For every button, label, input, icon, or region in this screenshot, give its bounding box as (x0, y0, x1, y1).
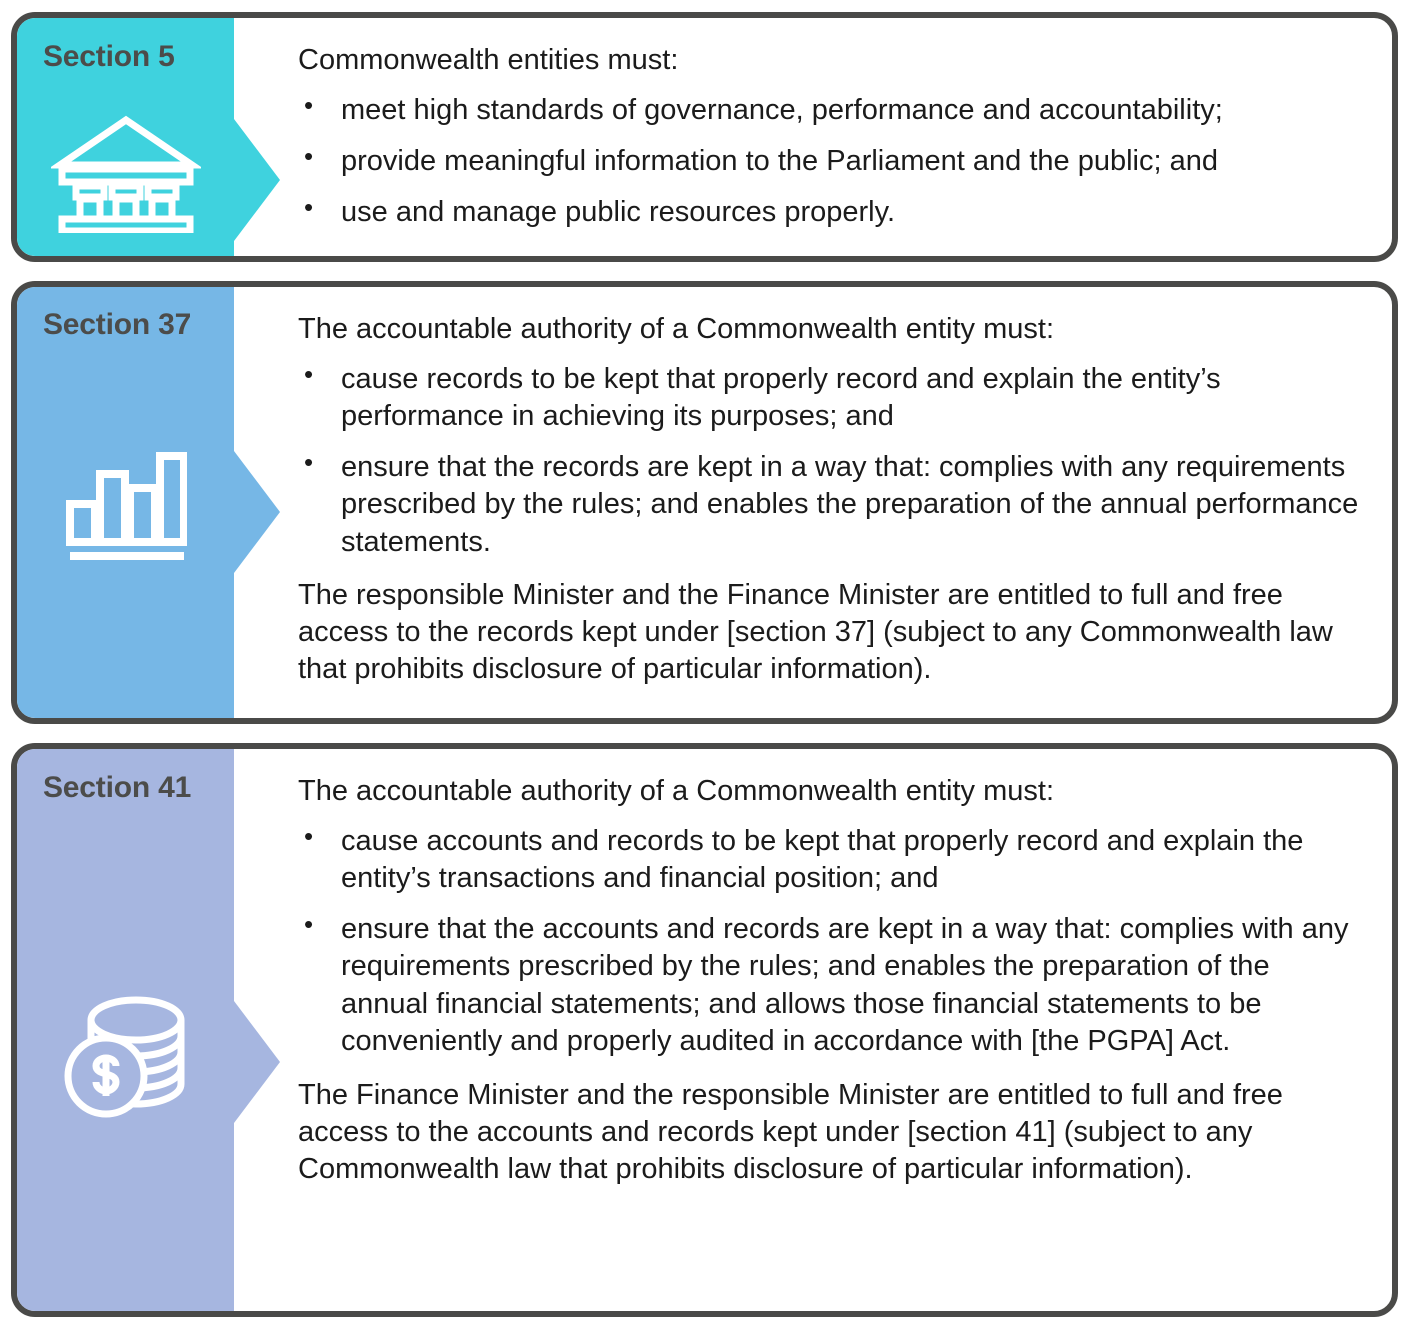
section-body-41: The accountable authority of a Commonwea… (234, 749, 1392, 1311)
list-item: provide meaningful information to the Pa… (298, 143, 1364, 180)
section-outro-37: The responsible Minister and the Finance… (298, 577, 1364, 688)
panel-arrow-41 (234, 1001, 280, 1123)
list-item: cause accounts and records to be kept th… (298, 823, 1364, 897)
section-outro-41: The Finance Minister and the responsible… (298, 1077, 1364, 1188)
bar-chart-icon (65, 442, 187, 569)
section-card-41: Section 41 (11, 743, 1398, 1317)
coin-stack-dollar-icon (62, 992, 190, 1123)
section-card-5: Section 5 (11, 12, 1398, 262)
list-item: use and manage public resources properly… (298, 194, 1364, 231)
section-intro-37: The accountable authority of a Commonwea… (298, 311, 1364, 348)
section-bullets-5: meet high standards of governance, perfo… (298, 92, 1364, 231)
panel-arrow-37 (234, 451, 280, 573)
section-intro-41: The accountable authority of a Commonwea… (298, 773, 1364, 810)
list-item: ensure that the accounts and records are… (298, 911, 1364, 1059)
section-card-37: Section 37 The accoun (11, 281, 1398, 724)
section-intro-5: Commonwealth entities must: (298, 42, 1364, 79)
parliament-building-icon (51, 113, 201, 238)
section-body-5: Commonwealth entities must: meet high st… (234, 18, 1392, 256)
list-item: meet high standards of governance, perfo… (298, 92, 1364, 129)
section-panel-41: Section 41 (17, 749, 234, 1311)
section-label-41: Section 41 (17, 771, 234, 805)
section-panel-37: Section 37 (17, 287, 234, 718)
panel-arrow-5 (234, 119, 280, 241)
list-item: ensure that the records are kept in a wa… (298, 449, 1364, 560)
section-label-37: Section 37 (17, 308, 234, 342)
section-label-5: Section 5 (17, 40, 234, 74)
section-body-37: The accountable authority of a Commonwea… (234, 287, 1392, 718)
section-panel-5: Section 5 (17, 18, 234, 256)
pgpa-sections-diagram: Section 5 (0, 0, 1409, 1344)
section-bullets-37: cause records to be kept that properly r… (298, 361, 1364, 561)
list-item: cause records to be kept that properly r… (298, 361, 1364, 435)
section-bullets-41: cause accounts and records to be kept th… (298, 823, 1364, 1060)
